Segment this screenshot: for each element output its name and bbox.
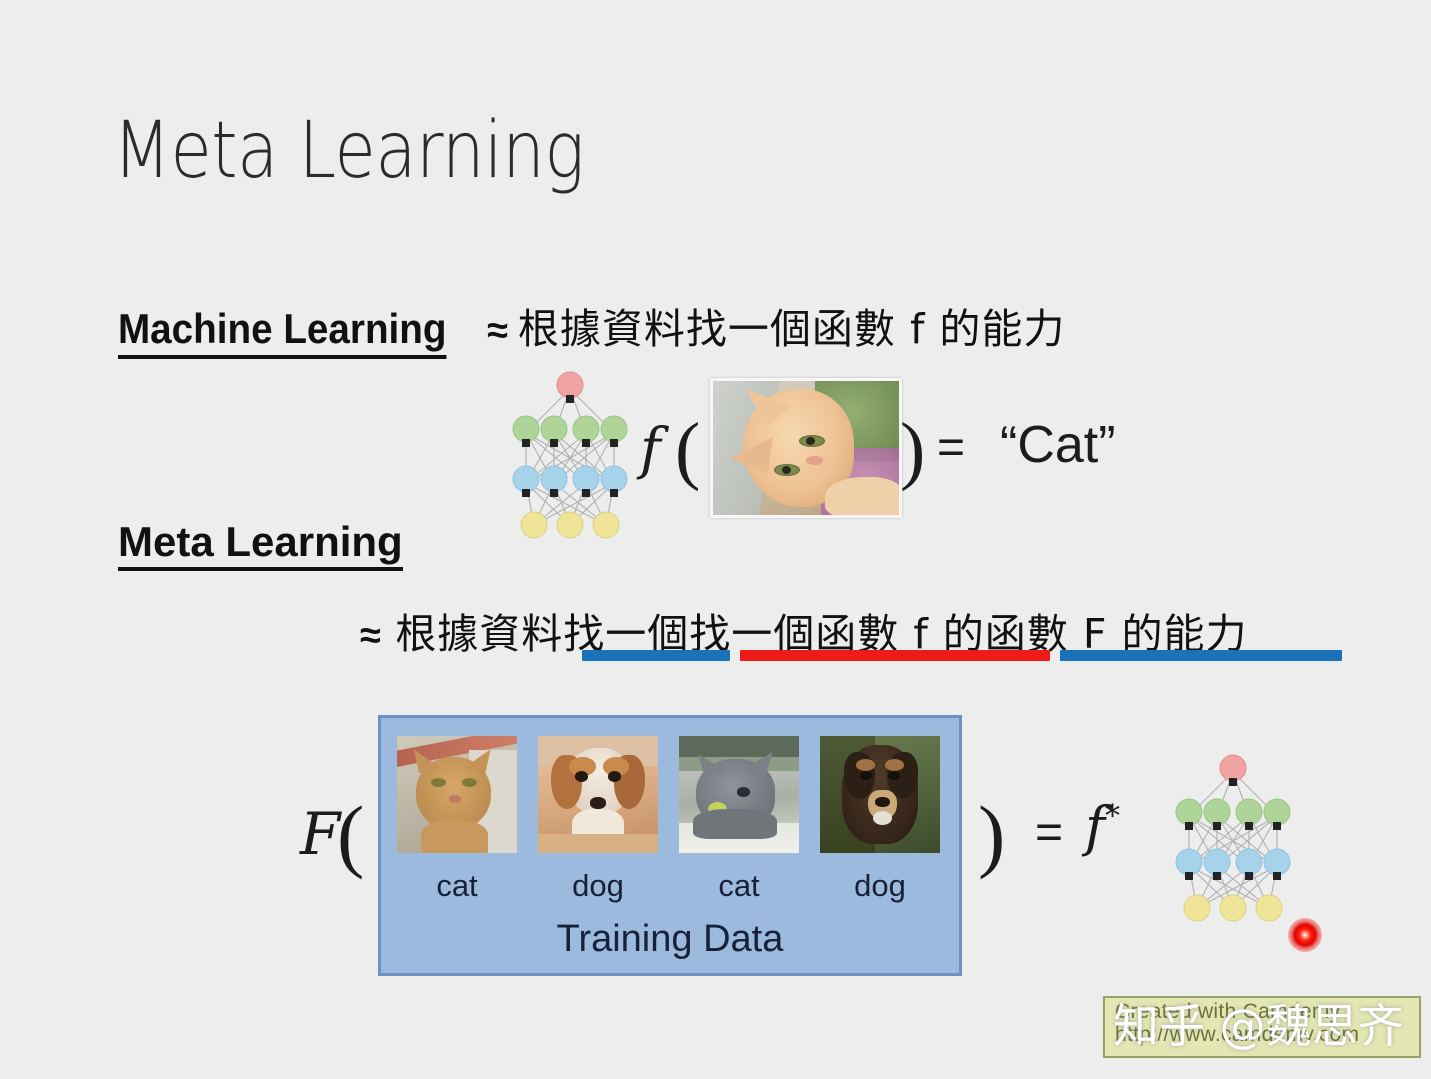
training-image-4 [820, 736, 940, 853]
f-star-superscript: * [1105, 799, 1120, 834]
list-item: dog [538, 736, 658, 904]
function-symbol-F: F [300, 800, 340, 868]
machine-learning-equation: f ( ) = “Cat” [500, 365, 1160, 545]
laser-pointer-dot [1288, 918, 1322, 952]
training-label-2: dog [538, 868, 658, 904]
paren-open-2: ( [337, 788, 364, 882]
training-label-1: cat [397, 868, 517, 904]
network-svg-2 [1163, 748, 1303, 923]
approx-symbol: ≈ [487, 310, 508, 353]
approx-symbol-2: ≈ [360, 615, 381, 657]
machine-learning-line: Machine Learning ≈ 根據資料找一個函數 f 的能力 [118, 295, 1065, 359]
paren-open: ( [675, 407, 700, 494]
list-item: dog [820, 736, 940, 904]
ml-result-label: “Cat” [1000, 415, 1116, 475]
machine-learning-statement: 根據資料找一個函數 f 的能力 [518, 295, 1066, 355]
training-image-1 [397, 736, 517, 853]
training-data-caption: Training Data [381, 918, 959, 961]
underline-red [740, 650, 1050, 661]
underline-blue-2 [1060, 650, 1342, 661]
training-data-box: cat [378, 715, 962, 976]
training-image-2 [538, 736, 658, 853]
training-label-3: cat [679, 868, 799, 904]
list-item: cat [397, 736, 517, 904]
network-svg [500, 365, 640, 540]
neural-network-diagram-2 [1163, 748, 1303, 928]
equals-symbol-2: = [1035, 805, 1063, 860]
paren-close-2: ) [978, 788, 1005, 882]
underline-blue-1 [582, 650, 730, 661]
f-star-base: f [1085, 795, 1105, 858]
equals-symbol: = [937, 420, 965, 475]
training-image-3 [679, 736, 799, 853]
cat-photo [710, 378, 902, 518]
training-label-4: dog [820, 868, 940, 904]
machine-learning-term: Machine Learning [118, 305, 446, 359]
function-symbol-f: f [640, 417, 661, 482]
slide-canvas: Meta Learning Machine Learning ≈ 根據資料找一個… [0, 0, 1431, 1079]
list-item: cat [679, 736, 799, 904]
meta-result-symbol: f* [1085, 795, 1120, 858]
zhihu-watermark: 知乎 @魏思齐 [1113, 990, 1404, 1056]
training-data-items: cat [397, 736, 940, 904]
meta-learning-line: Meta Learning [118, 518, 403, 566]
meta-learning-term: Meta Learning [118, 518, 403, 571]
paren-close: ) [900, 407, 925, 494]
page-title: Meta Learning [113, 112, 584, 190]
